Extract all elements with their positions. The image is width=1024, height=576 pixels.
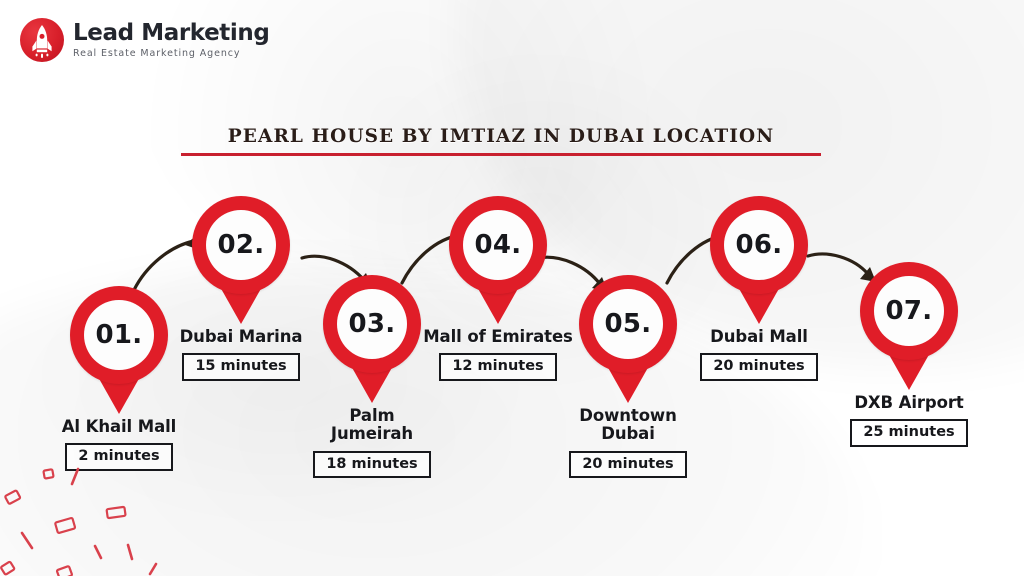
- stop-place-name: PalmJumeirah: [272, 407, 472, 444]
- map-pin-icon[interactable]: 06.: [710, 196, 808, 322]
- stop-place-name: DowntownDubai: [528, 407, 728, 444]
- stop-number: 05.: [579, 275, 677, 373]
- brand-logo-text: Lead Marketing Real Estate Marketing Age…: [73, 22, 269, 59]
- stop-time-wrap: 25 minutes: [809, 419, 1009, 446]
- page-title-block: PEARL HOUSE BY IMTIAZ IN DUBAI LOCATION: [181, 126, 821, 156]
- page-title: PEARL HOUSE BY IMTIAZ IN DUBAI LOCATION: [181, 126, 821, 147]
- stop-number: 03.: [323, 275, 421, 373]
- stop-number: 01.: [70, 286, 168, 384]
- rocket-in-circle-logo-icon: [20, 18, 64, 62]
- map-pin-icon[interactable]: 03.: [323, 275, 421, 401]
- map-pin-icon[interactable]: 05.: [579, 275, 677, 401]
- stop-number: 06.: [710, 196, 808, 294]
- stop-duration-badge: 25 minutes: [850, 419, 967, 446]
- stop-duration-badge: 18 minutes: [313, 451, 430, 478]
- stop-duration-badge: 20 minutes: [569, 451, 686, 478]
- map-pin-icon[interactable]: 07.: [860, 262, 958, 388]
- stop-number: 02.: [192, 196, 290, 294]
- map-pin-icon[interactable]: 01.: [70, 286, 168, 412]
- stop-time-wrap: 20 minutes: [528, 451, 728, 478]
- stop-place-name: Al Khail Mall: [19, 418, 219, 436]
- stop-time-wrap: 18 minutes: [272, 451, 472, 478]
- stop-duration-badge: 20 minutes: [700, 353, 817, 380]
- stop-number: 07.: [860, 262, 958, 360]
- page-title-underline: [181, 153, 821, 156]
- brand-tagline: Real Estate Marketing Agency: [73, 49, 269, 59]
- stop-07[interactable]: 07. DXB Airport 25 minutes: [809, 262, 1009, 447]
- stop-number: 04.: [449, 196, 547, 294]
- stop-place-name: DXB Airport: [809, 394, 1009, 412]
- infographic-canvas: Lead Marketing Real Estate Marketing Age…: [0, 0, 1024, 576]
- brand-logo: Lead Marketing Real Estate Marketing Age…: [20, 18, 269, 62]
- brand-name: Lead Marketing: [73, 22, 269, 45]
- confetti-decoration: [0, 446, 190, 576]
